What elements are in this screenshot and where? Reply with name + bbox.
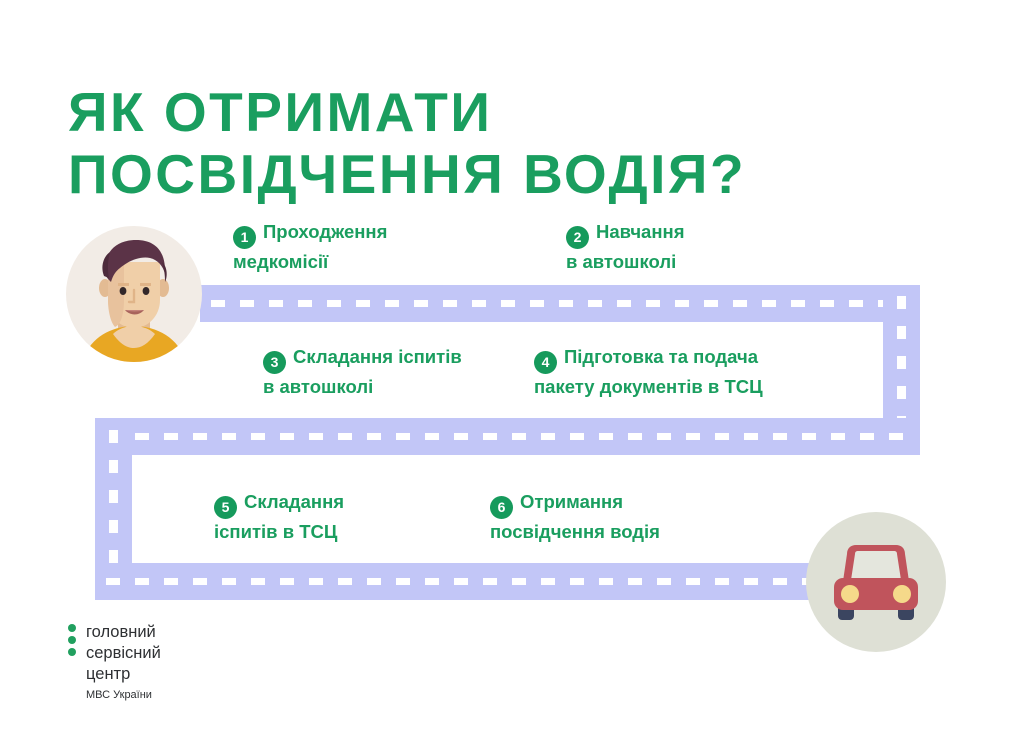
step-2: 2Навчання в автошколі xyxy=(566,219,816,275)
step-3-label: Складання іспитів в автошколі xyxy=(263,346,462,397)
logo-name: головний сервісний центр xyxy=(86,622,161,685)
step-1-label: Проходження медкомісії xyxy=(233,221,387,272)
step-6: 6Отримання посвідчення водія xyxy=(490,489,780,545)
road-dashes-middle xyxy=(106,433,906,440)
step-3: 3Складання іспитів в автошколі xyxy=(263,344,528,400)
road-segment-middle xyxy=(95,418,920,455)
man-avatar xyxy=(66,226,202,362)
step-5: 5Складання іспитів в ТСЦ xyxy=(214,489,459,545)
road-dashes-top xyxy=(211,300,911,307)
logo-subtitle: МВС України xyxy=(86,687,161,703)
step-4-label: Підготовка та подача пакету документів в… xyxy=(534,346,763,397)
step-4: 4Підготовка та подача пакету документів … xyxy=(534,344,854,400)
road-segment-left-lower xyxy=(95,418,132,600)
step-1-number: 1 xyxy=(233,226,256,249)
step-6-label: Отримання посвідчення водія xyxy=(490,491,660,542)
road-segment-top xyxy=(200,285,920,322)
step-5-number: 5 xyxy=(214,496,237,519)
step-1: 1Проходження медкомісії xyxy=(233,219,493,275)
man-avatar-icon xyxy=(66,226,202,362)
road-dashes-left-lower xyxy=(109,430,118,590)
road-segment-right-upper xyxy=(883,285,920,455)
logo: головний сервісний центр МВС України xyxy=(68,622,161,703)
road-dashes-right-upper xyxy=(897,296,906,446)
road-segment-bottom xyxy=(95,563,920,600)
red-car-icon xyxy=(806,512,946,652)
step-2-number: 2 xyxy=(566,226,589,249)
step-6-number: 6 xyxy=(490,496,513,519)
page-title: ЯК ОТРИМАТИ ПОСВІДЧЕННЯ ВОДІЯ? xyxy=(68,81,948,205)
red-car xyxy=(806,512,946,652)
logo-dots-icon xyxy=(68,622,76,656)
step-3-number: 3 xyxy=(263,351,286,374)
step-4-number: 4 xyxy=(534,351,557,374)
road-dashes-bottom xyxy=(106,578,906,585)
